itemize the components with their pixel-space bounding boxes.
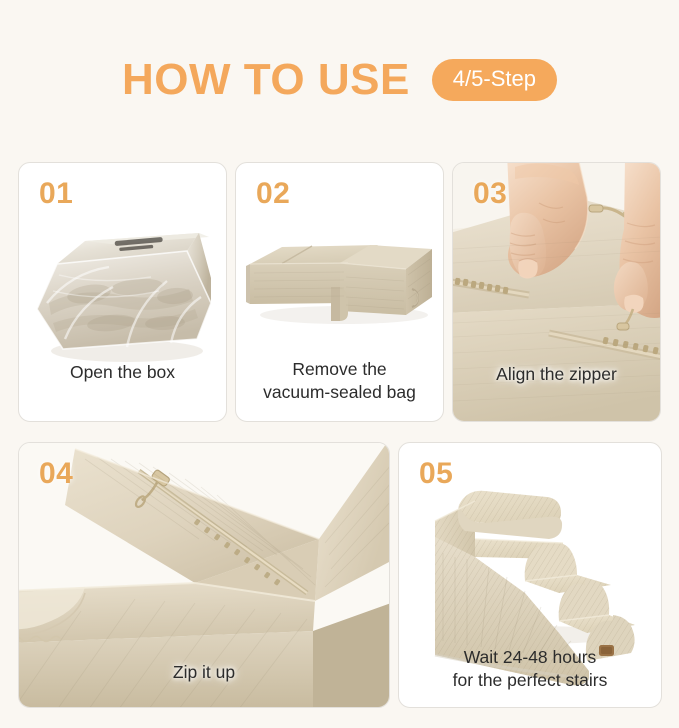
step-card-02[interactable]: 02	[235, 162, 444, 422]
steps-row-bottom: 04 Zip it up 05	[18, 442, 662, 708]
step-card-05[interactable]: 05	[398, 442, 662, 708]
step-number-04: 04	[39, 459, 73, 489]
step-card-01[interactable]: 01	[18, 162, 227, 422]
step-card-04[interactable]: 04 Zip it up	[18, 442, 390, 708]
step-card-03[interactable]: 03 Align the zipper	[452, 162, 661, 422]
step-caption-04: Zip it up	[19, 661, 389, 683]
page-title: HOW TO USE	[122, 58, 410, 102]
step-number-05: 05	[419, 459, 453, 489]
step-caption-02-line2: vacuum-sealed bag	[244, 381, 435, 403]
step-number-01: 01	[39, 179, 73, 209]
step-number-02: 02	[256, 179, 290, 209]
step-caption-02: Remove the vacuum-sealed bag	[236, 358, 443, 403]
step-caption-03: Align the zipper	[453, 363, 660, 385]
step-caption-01: Open the box	[19, 361, 226, 383]
step-caption-05: Wait 24-48 hours for the perfect stairs	[399, 646, 661, 691]
step-caption-05-line1: Wait 24-48 hours	[407, 646, 653, 668]
step-caption-05-line2: for the perfect stairs	[407, 669, 653, 691]
step-caption-02-line1: Remove the	[244, 358, 435, 380]
step-number-03: 03	[473, 179, 507, 209]
step-count-badge: 4/5-Step	[432, 59, 557, 101]
header: HOW TO USE 4/5-Step	[0, 52, 679, 108]
how-to-use-infographic: HOW TO USE 4/5-Step 01	[0, 0, 679, 728]
steps-row-top: 01	[18, 162, 662, 422]
